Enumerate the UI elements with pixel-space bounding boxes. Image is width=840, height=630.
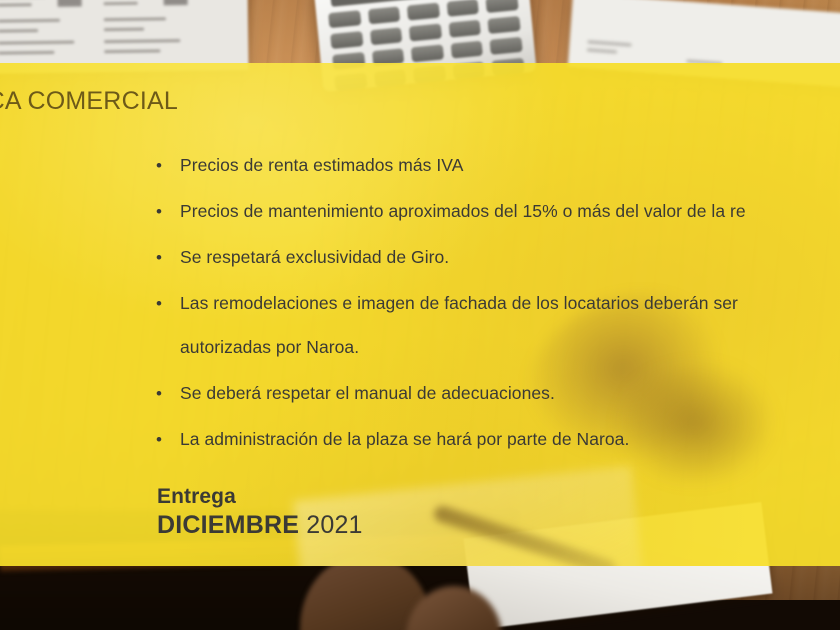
bullet-list: • Precios de renta estimados más IVA • P…: [150, 153, 840, 473]
bullet-marker-icon: •: [150, 291, 180, 316]
bullet-marker-icon: •: [150, 381, 180, 406]
list-item-text: Precios de renta estimados más IVA: [180, 153, 463, 178]
list-item: • Se respetará exclusividad de Giro.: [150, 245, 840, 270]
list-item-text: Precios de mantenimiento aproximados del…: [180, 199, 746, 224]
bullet-marker-icon: •: [150, 245, 180, 270]
delivery-block: Entrega DICIEMBRE 2021: [157, 484, 363, 540]
list-item-text-continuation: autorizadas por Naroa.: [180, 337, 359, 357]
bullet-marker-icon: •: [150, 153, 180, 178]
list-item: • La administración de la plaza se hará …: [150, 427, 840, 452]
list-item: • Precios de renta estimados más IVA: [150, 153, 840, 178]
delivery-date: DICIEMBRE 2021: [157, 510, 363, 540]
list-item: • Las remodelaciones e imagen de fachada…: [150, 291, 840, 360]
list-item-text: Se respetará exclusividad de Giro.: [180, 245, 449, 270]
bullet-marker-icon: •: [150, 199, 180, 224]
list-item-text: Las remodelaciones e imagen de fachada d…: [180, 291, 738, 316]
yellow-content-panel: TICA COMERCIAL • Precios de renta estima…: [0, 63, 840, 566]
list-item-text: Se deberá respetar el manual de adecuaci…: [180, 381, 555, 406]
list-item: • Se deberá respetar el manual de adecua…: [150, 381, 840, 406]
slide: TICA COMERCIAL • Precios de renta estima…: [0, 0, 840, 630]
list-item-text: La administración de la plaza se hará po…: [180, 427, 629, 452]
page-title: TICA COMERCIAL: [0, 87, 178, 116]
delivery-year: 2021: [306, 511, 362, 539]
delivery-month: DICIEMBRE: [157, 511, 299, 539]
delivery-label: Entrega: [157, 484, 363, 510]
list-item: • Precios de mantenimiento aproximados d…: [150, 199, 840, 224]
bullet-marker-icon: •: [150, 427, 180, 452]
